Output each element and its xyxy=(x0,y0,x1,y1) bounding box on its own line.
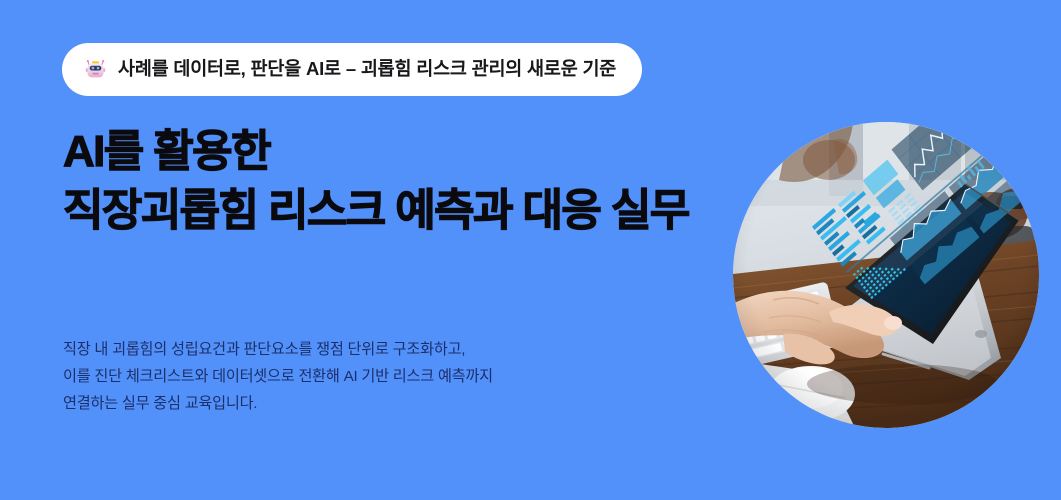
description-line-2: 이를 진단 체크리스트와 데이터셋으로 전환해 AI 기반 리스크 예측까지 xyxy=(63,363,663,390)
badge-label: 사례를 데이터로, 판단을 AI로 – 괴롭힘 리스크 관리의 새로운 기준 xyxy=(118,60,616,80)
headline-line-2: 직장괴롭힘 리스크 예측과 대응 실무 xyxy=(63,181,723,240)
laptop-dashboard-photo xyxy=(733,122,1039,428)
promo-banner: 사례를 데이터로, 판단을 AI로 – 괴롭힘 리스크 관리의 새로운 기준 A… xyxy=(0,0,1061,500)
page-title: AI를 활용한 직장괴롭힘 리스크 예측과 대응 실무 xyxy=(63,122,723,240)
description-line-1: 직장 내 괴롭힘의 성립요건과 판단요소를 쟁점 단위로 구조화하고, xyxy=(63,336,663,363)
description-block: 직장 내 괴롭힘의 성립요건과 판단요소를 쟁점 단위로 구조화하고, 이를 진… xyxy=(63,336,663,417)
robot-icon xyxy=(84,58,107,81)
description-line-3: 연결하는 실무 중심 교육입니다. xyxy=(63,390,663,417)
badge-pill: 사례를 데이터로, 판단을 AI로 – 괴롭힘 리스크 관리의 새로운 기준 xyxy=(62,43,642,96)
headline-line-1: AI를 활용한 xyxy=(63,122,723,181)
